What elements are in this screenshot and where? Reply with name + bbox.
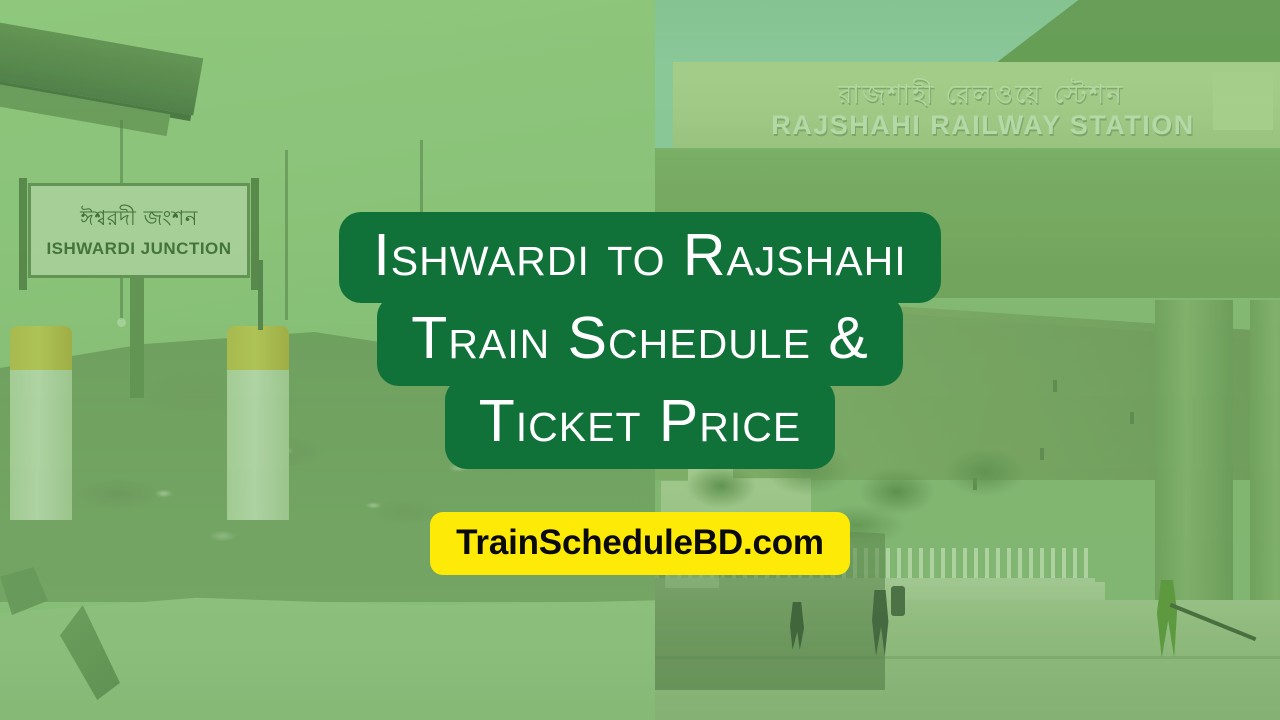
site-badge-label: TrainScheduleBD.com	[430, 512, 850, 575]
banner-title: Ishwardi to Rajshahi Train Schedule & Ti…	[0, 212, 1280, 461]
pedestrian	[891, 586, 905, 616]
site-badge: TrainScheduleBD.com	[0, 512, 1280, 575]
title-line-2: Train Schedule &	[377, 295, 902, 386]
banner-image: ঈশ্বরদী জংশন ISHWARDI JUNCTION রাজশাহী র…	[0, 0, 1280, 720]
title-line-1: Ishwardi to Rajshahi	[339, 212, 940, 303]
title-line-3: Ticket Price	[445, 378, 835, 469]
station-name-english: RAJSHAHI RAILWAY STATION	[695, 110, 1271, 141]
